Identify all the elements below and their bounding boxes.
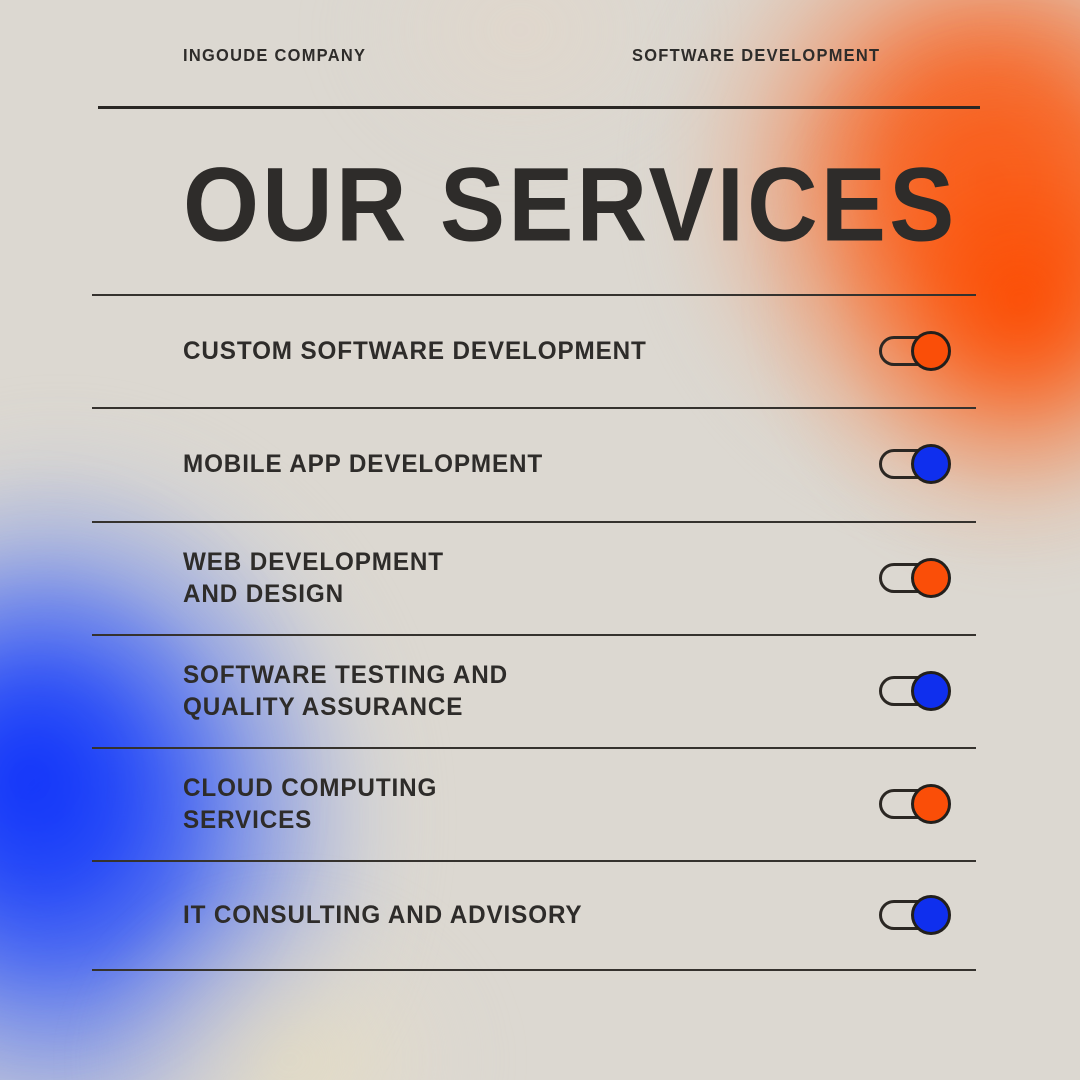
service-label: CLOUD COMPUTING SERVICES [183, 772, 437, 836]
poster-content: INGOUDE COMPANY SOFTWARE DEVELOPMENT OUR… [0, 0, 1080, 1080]
service-row[interactable]: MOBILE APP DEVELOPMENT [92, 407, 976, 521]
toggle-knob [911, 444, 951, 484]
header: INGOUDE COMPANY SOFTWARE DEVELOPMENT [0, 0, 1080, 107]
service-row[interactable]: IT CONSULTING AND ADVISORY [92, 860, 976, 969]
toggle-knob [911, 784, 951, 824]
brand-name: INGOUDE COMPANY [183, 45, 366, 66]
service-label: IT CONSULTING AND ADVISORY [183, 899, 582, 931]
poster-canvas: INGOUDE COMPANY SOFTWARE DEVELOPMENT OUR… [0, 0, 1080, 1080]
service-label: MOBILE APP DEVELOPMENT [183, 448, 543, 480]
service-toggle-switch[interactable] [879, 673, 951, 709]
header-divider [98, 106, 980, 109]
service-toggle-switch[interactable] [879, 786, 951, 822]
toggle-knob [911, 671, 951, 711]
service-label: WEB DEVELOPMENT AND DESIGN [183, 546, 444, 610]
page-title: OUR SERVICES [183, 152, 957, 257]
service-row[interactable]: CLOUD COMPUTING SERVICES [92, 747, 976, 860]
service-label: CUSTOM SOFTWARE DEVELOPMENT [183, 335, 647, 367]
service-toggle-switch[interactable] [879, 897, 951, 933]
service-toggle-switch[interactable] [879, 333, 951, 369]
service-row[interactable]: CUSTOM SOFTWARE DEVELOPMENT [92, 294, 976, 407]
category-label: SOFTWARE DEVELOPMENT [632, 45, 880, 66]
service-row[interactable]: WEB DEVELOPMENT AND DESIGN [92, 521, 976, 634]
service-toggle-switch[interactable] [879, 446, 951, 482]
toggle-knob [911, 895, 951, 935]
toggle-knob [911, 558, 951, 598]
service-label: SOFTWARE TESTING AND QUALITY ASSURANCE [183, 659, 508, 723]
service-toggle-switch[interactable] [879, 560, 951, 596]
toggle-knob [911, 331, 951, 371]
service-row[interactable]: SOFTWARE TESTING AND QUALITY ASSURANCE [92, 634, 976, 747]
service-divider [92, 969, 976, 971]
